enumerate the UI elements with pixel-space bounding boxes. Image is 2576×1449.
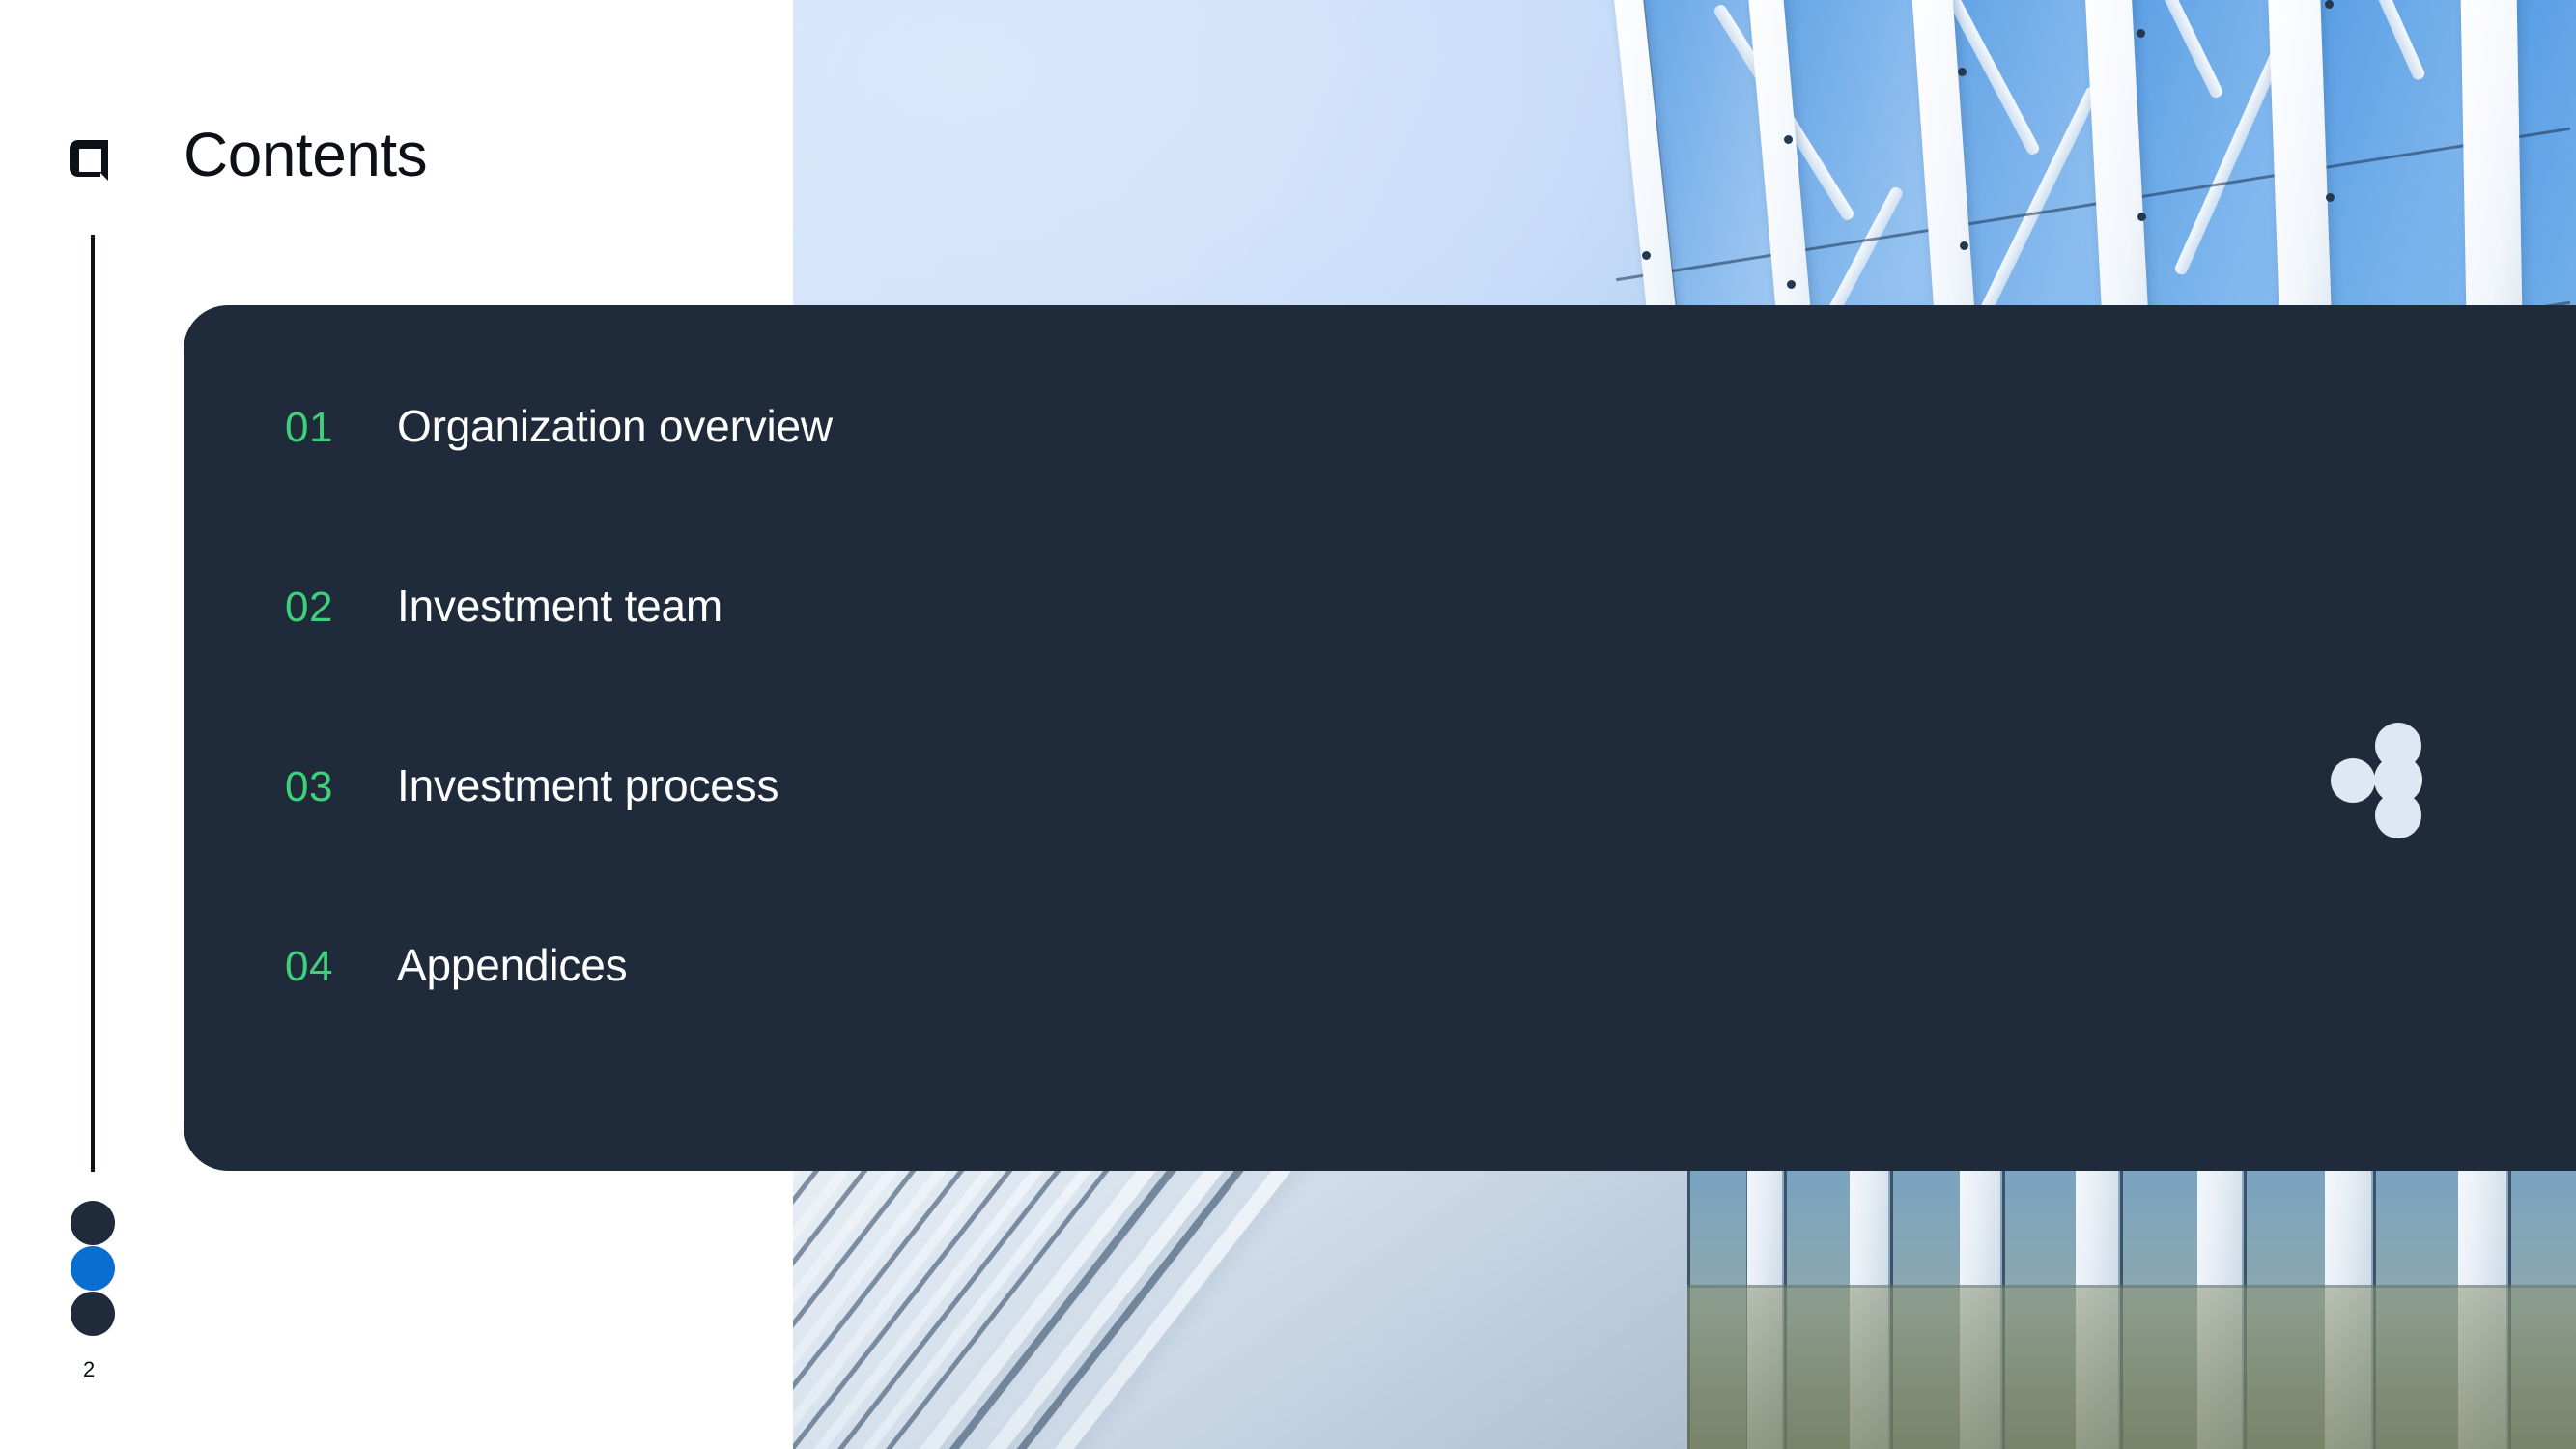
toc-item-01[interactable]: 01 Organization overview bbox=[285, 400, 1637, 580]
toc-item-04[interactable]: 04 Appendices bbox=[285, 939, 1637, 1119]
toc-label: Organization overview bbox=[397, 400, 833, 452]
toc-label: Investment process bbox=[397, 759, 778, 811]
slide-canvas: Contents 01 Organization overview 02 Inv… bbox=[0, 0, 2576, 1449]
toc-number: 03 bbox=[285, 763, 397, 811]
toc-label: Investment team bbox=[397, 580, 722, 632]
footer-dot-dark-top bbox=[71, 1201, 115, 1245]
company-logo-mark bbox=[69, 136, 113, 185]
footer-dot-blue-middle bbox=[71, 1246, 115, 1291]
toc-item-03[interactable]: 03 Investment process bbox=[285, 759, 1637, 939]
reflected-ground bbox=[1687, 1285, 2576, 1449]
footer-dots-decoration bbox=[71, 1201, 115, 1336]
toc-number: 01 bbox=[285, 404, 397, 452]
cluster-dot-bottom bbox=[2375, 792, 2421, 838]
four-circle-cluster-icon bbox=[2331, 723, 2429, 831]
vertical-rule bbox=[91, 235, 95, 1172]
table-of-contents: 01 Organization overview 02 Investment t… bbox=[285, 400, 1637, 1119]
page-number: 2 bbox=[83, 1357, 95, 1382]
toc-number: 04 bbox=[285, 943, 397, 991]
toc-label: Appendices bbox=[397, 939, 627, 991]
toc-item-02[interactable]: 02 Investment team bbox=[285, 580, 1637, 759]
page-title: Contents bbox=[184, 124, 427, 185]
contents-card: 01 Organization overview 02 Investment t… bbox=[184, 305, 2576, 1171]
toc-number: 02 bbox=[285, 583, 397, 632]
cluster-dot-left bbox=[2331, 758, 2375, 803]
footer-dot-dark-bottom bbox=[71, 1292, 115, 1336]
